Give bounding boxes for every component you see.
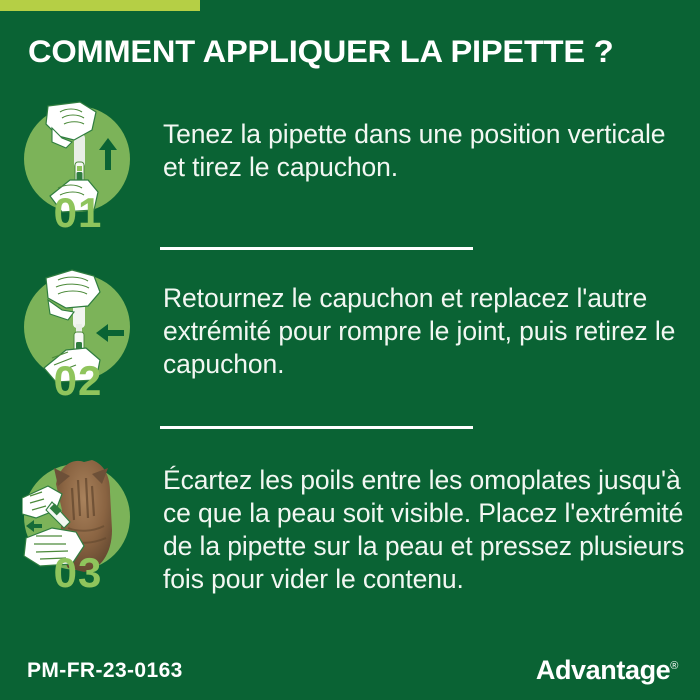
arrow-left-icon xyxy=(96,324,124,342)
step-1-icon: 01 xyxy=(22,100,134,218)
footer-code: PM-FR-23-0163 xyxy=(27,659,183,683)
step-1-number: 01 xyxy=(22,192,134,234)
divider-1 xyxy=(160,247,473,250)
step-3-number: 03 xyxy=(22,552,134,594)
step-1-text: Tenez la pipette dans une position verti… xyxy=(163,118,687,184)
step-3-text: Écartez les poils entre les omoplates ju… xyxy=(163,464,687,596)
step-3-icon: 03 xyxy=(22,458,134,576)
brand-name: Advantage xyxy=(536,655,670,685)
divider-2 xyxy=(160,426,473,429)
step-2-icon: 02 xyxy=(22,268,134,386)
infographic-page: COMMENT APPLIQUER LA PIPETTE ? xyxy=(0,0,700,700)
arrow-up-icon xyxy=(99,138,117,170)
arrow-left-icon xyxy=(26,520,42,532)
registered-mark: ® xyxy=(670,660,678,672)
step-2-text: Retournez le capuchon et replacez l'autr… xyxy=(163,282,687,381)
step-2-number: 02 xyxy=(22,360,134,402)
top-accent-bar xyxy=(0,0,200,11)
page-title: COMMENT APPLIQUER LA PIPETTE ? xyxy=(28,31,699,71)
brand-logo: Advantage® xyxy=(536,655,678,686)
